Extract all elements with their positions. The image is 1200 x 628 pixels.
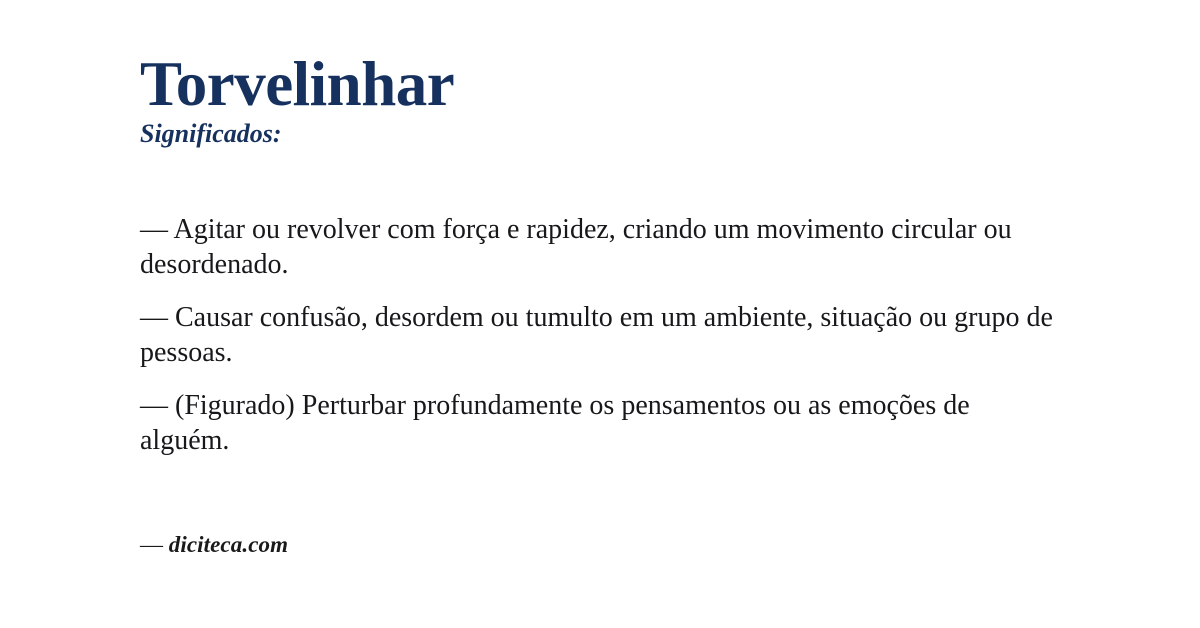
list-item: — Causar confusão, desordem ou tumulto e…: [140, 300, 1060, 370]
dictionary-card: Torvelinhar Significados: — Agitar ou re…: [0, 0, 1200, 628]
source-attribution: — diciteca.com: [140, 531, 640, 560]
definition-text: Causar confusão, desordem ou tumulto em …: [140, 302, 1053, 368]
definition-list: — Agitar ou revolver com força e rapidez…: [140, 212, 1060, 458]
meanings-label: Significados:: [140, 118, 1070, 149]
list-item: — Agitar ou revolver com força e rapidez…: [140, 212, 1060, 282]
source-link[interactable]: diciteca.com: [169, 532, 288, 557]
definition-text: Agitar ou revolver com força e rapidez, …: [140, 214, 1012, 280]
list-item: — (Figurado) Perturbar profundamente os …: [140, 388, 1060, 458]
em-dash-icon: —: [140, 302, 168, 333]
em-dash-icon: —: [140, 390, 168, 421]
en-dash-icon: —: [140, 532, 163, 557]
definition-text: (Figurado) Perturbar profundamente os pe…: [140, 390, 970, 456]
card-header: Torvelinhar Significados:: [140, 52, 1070, 149]
page-title: Torvelinhar: [140, 52, 1070, 116]
em-dash-icon: —: [140, 214, 168, 245]
